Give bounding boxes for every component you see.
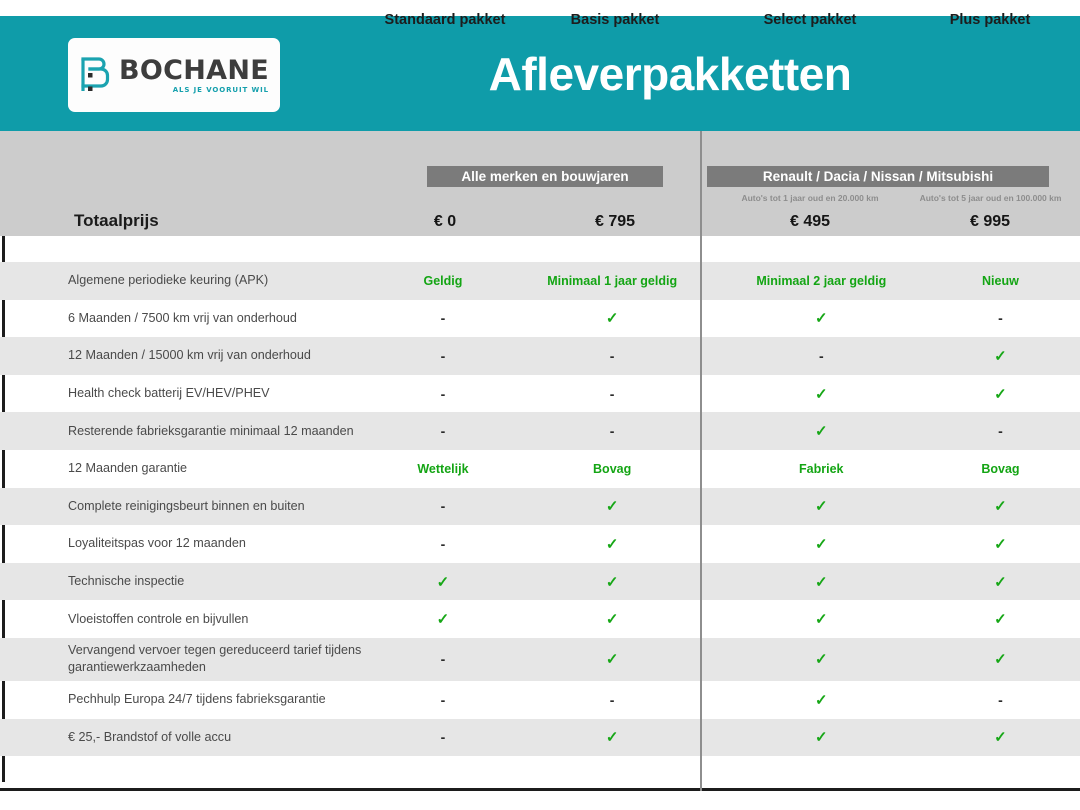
table-row: Complete reinigingsbeurt binnen en buite… [0, 488, 1080, 526]
dash-icon: - [533, 692, 692, 708]
column-sub-select: Auto's tot 1 jaar oud en 20.000 km [715, 193, 905, 203]
dash-icon: - [533, 423, 692, 439]
column-header-select: Select pakket [735, 12, 885, 28]
column-header-basis: Basis pakket [535, 12, 695, 28]
row-left-edge-marker [2, 681, 5, 719]
check-icon: ✓ [533, 610, 692, 628]
column-header-standaard: Standaard pakket [380, 12, 510, 28]
row-left-edge-marker [2, 450, 5, 488]
table-row: 12 Maanden garantieWettelijkBovagFabriek… [0, 450, 1080, 488]
row-label: 12 Maanden garantie [0, 460, 378, 477]
row-label: Loyaliteitspas voor 12 maanden [0, 535, 378, 552]
bottom-white-strip [0, 793, 1080, 810]
row-label: Pechhulp Europa 24/7 tijdens fabrieksgar… [0, 691, 378, 708]
row-left-edge-marker [2, 488, 5, 526]
cell-value: Minimaal 1 jaar geldig [533, 274, 692, 288]
check-icon: ✓ [921, 728, 1080, 746]
totaalprijs-label: Totaalprijs [74, 211, 159, 231]
dash-icon: - [378, 348, 507, 364]
row-label: € 25,- Brandstof of volle accu [0, 729, 378, 746]
check-icon: ✓ [921, 385, 1080, 403]
row-left-edge-marker [2, 300, 5, 338]
comparison-table: Algemene periodieke keuring (APK)GeldigM… [0, 236, 1080, 791]
check-icon: ✓ [533, 650, 692, 668]
check-icon: ✓ [533, 535, 692, 553]
dash-icon: - [921, 423, 1080, 439]
check-icon: ✓ [378, 610, 507, 628]
check-icon: ✓ [533, 728, 692, 746]
price-standaard: € 0 [380, 213, 510, 231]
check-icon: ✓ [747, 610, 896, 628]
row-label: 6 Maanden / 7500 km vrij van onderhoud [0, 310, 378, 327]
badge-alle-merken: Alle merken en bouwjaren [427, 166, 663, 187]
dash-icon: - [533, 348, 692, 364]
row-label: Health check batterij EV/HEV/PHEV [0, 385, 378, 402]
table-row: Vloeistoffen controle en bijvullen✓✓✓✓ [0, 600, 1080, 638]
column-header-plus: Plus pakket [910, 12, 1070, 28]
cell-value: Fabriek [747, 462, 896, 476]
check-icon: ✓ [921, 535, 1080, 553]
dash-icon: - [378, 423, 507, 439]
row-left-edge-marker [2, 563, 5, 601]
cell-value: Bovag [533, 462, 692, 476]
check-icon: ✓ [747, 728, 896, 746]
table-row: € 25,- Brandstof of volle accu-✓✓✓ [0, 719, 1080, 757]
row-left-edge-marker [2, 337, 5, 375]
column-group-divider [700, 131, 702, 791]
cell-value: Wettelijk [378, 462, 507, 476]
price-plus: € 995 [910, 213, 1070, 231]
check-icon: ✓ [921, 347, 1080, 365]
row-label: Resterende fabrieksgarantie minimaal 12 … [0, 423, 378, 440]
afleverpakketten-sheet: BOCHANE ALS JE VOORUIT WIL Afleverpakket… [0, 0, 1080, 810]
dash-icon: - [378, 729, 507, 745]
table-top-gap [0, 236, 1080, 262]
check-icon: ✓ [921, 497, 1080, 515]
table-row: 12 Maanden / 15000 km vrij van onderhoud… [0, 337, 1080, 375]
price-basis: € 795 [535, 213, 695, 231]
table-row: Algemene periodieke keuring (APK)GeldigM… [0, 262, 1080, 300]
row-left-edge-marker [2, 600, 5, 638]
row-left-edge-marker [2, 375, 5, 413]
row-left-edge-marker [2, 756, 5, 782]
row-left-edge-marker [2, 412, 5, 450]
dash-icon: - [533, 386, 692, 402]
check-icon: ✓ [533, 309, 692, 327]
dash-icon: - [378, 386, 507, 402]
table-row: Loyaliteitspas voor 12 maanden-✓✓✓ [0, 525, 1080, 563]
row-left-edge-marker [2, 719, 5, 757]
table-row: Resterende fabrieksgarantie minimaal 12 … [0, 412, 1080, 450]
badge-merken-select-plus: Renault / Dacia / Nissan / Mitsubishi [707, 166, 1049, 187]
cell-value: Geldig [378, 274, 507, 288]
dash-icon: - [378, 692, 507, 708]
check-icon: ✓ [378, 573, 507, 591]
dash-icon: - [378, 651, 507, 667]
row-label: 12 Maanden / 15000 km vrij van onderhoud [0, 347, 378, 364]
dash-icon: - [378, 310, 507, 326]
check-icon: ✓ [747, 497, 896, 515]
dash-icon: - [378, 536, 507, 552]
check-icon: ✓ [533, 573, 692, 591]
table-row: Health check batterij EV/HEV/PHEV--✓✓ [0, 375, 1080, 413]
table-row: Technische inspectie✓✓✓✓ [0, 563, 1080, 601]
check-icon: ✓ [533, 497, 692, 515]
dash-icon: - [921, 692, 1080, 708]
check-icon: ✓ [921, 573, 1080, 591]
row-label: Technische inspectie [0, 573, 378, 590]
check-icon: ✓ [747, 422, 896, 440]
row-label: Algemene periodieke keuring (APK) [0, 272, 378, 289]
dash-icon: - [378, 498, 507, 514]
table-row: 6 Maanden / 7500 km vrij van onderhoud-✓… [0, 300, 1080, 338]
table-row: Pechhulp Europa 24/7 tijdens fabrieksgar… [0, 681, 1080, 719]
cell-value: Minimaal 2 jaar geldig [747, 274, 896, 288]
price-select: € 495 [735, 213, 885, 231]
check-icon: ✓ [747, 573, 896, 591]
table-row: Vervangend vervoer tegen gereduceerd tar… [0, 638, 1080, 681]
check-icon: ✓ [921, 610, 1080, 628]
check-icon: ✓ [747, 650, 896, 668]
row-left-edge-marker [2, 638, 5, 681]
column-sub-plus: Auto's tot 5 jaar oud en 100.000 km [893, 193, 1080, 203]
row-left-edge-marker [2, 262, 5, 300]
table-bottom-gap [0, 756, 1080, 782]
check-icon: ✓ [747, 535, 896, 553]
check-icon: ✓ [747, 385, 896, 403]
row-left-edge-marker [2, 525, 5, 563]
check-icon: ✓ [747, 691, 896, 709]
row-label: Vervangend vervoer tegen gereduceerd tar… [0, 642, 378, 676]
dash-icon: - [747, 348, 896, 364]
cell-value: Nieuw [921, 274, 1080, 288]
check-icon: ✓ [921, 650, 1080, 668]
row-label: Complete reinigingsbeurt binnen en buite… [0, 498, 378, 515]
row-label: Vloeistoffen controle en bijvullen [0, 611, 378, 628]
page-title: Afleverpakketten [0, 16, 1080, 131]
dash-icon: - [921, 310, 1080, 326]
cell-value: Bovag [921, 462, 1080, 476]
check-icon: ✓ [747, 309, 896, 327]
row-left-edge-marker [2, 236, 5, 262]
